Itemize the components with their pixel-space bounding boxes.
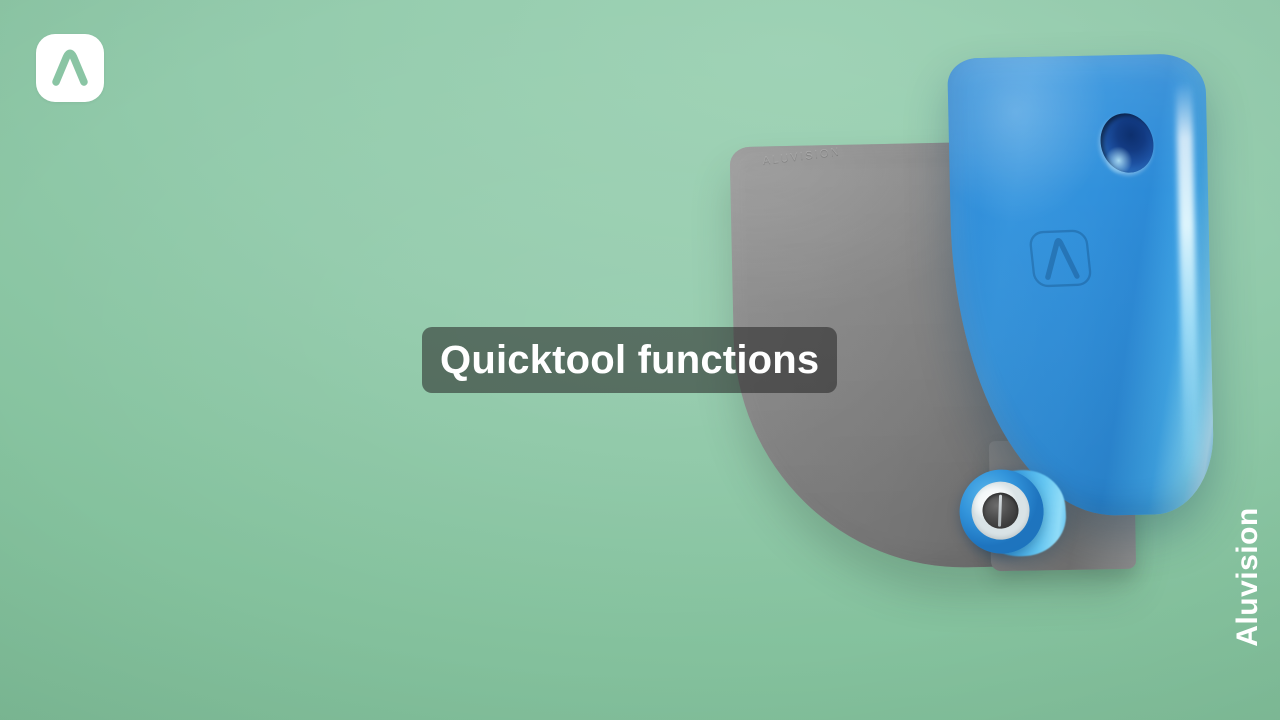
- page-title: Quicktool functions: [440, 340, 819, 380]
- title-card: Quicktool functions: [422, 327, 837, 393]
- adjustment-knob: [954, 461, 1065, 572]
- video-frame: ALUVISION: [0, 0, 1280, 720]
- lever-specular-highlight: [1176, 82, 1200, 482]
- product-render: ALUVISION: [690, 40, 1250, 600]
- aluvision-a-mark-icon: [36, 34, 104, 102]
- aluvision-a-emblem-icon: [1026, 227, 1095, 289]
- screw-slot: [998, 495, 1002, 527]
- mounting-hole: [1093, 106, 1162, 180]
